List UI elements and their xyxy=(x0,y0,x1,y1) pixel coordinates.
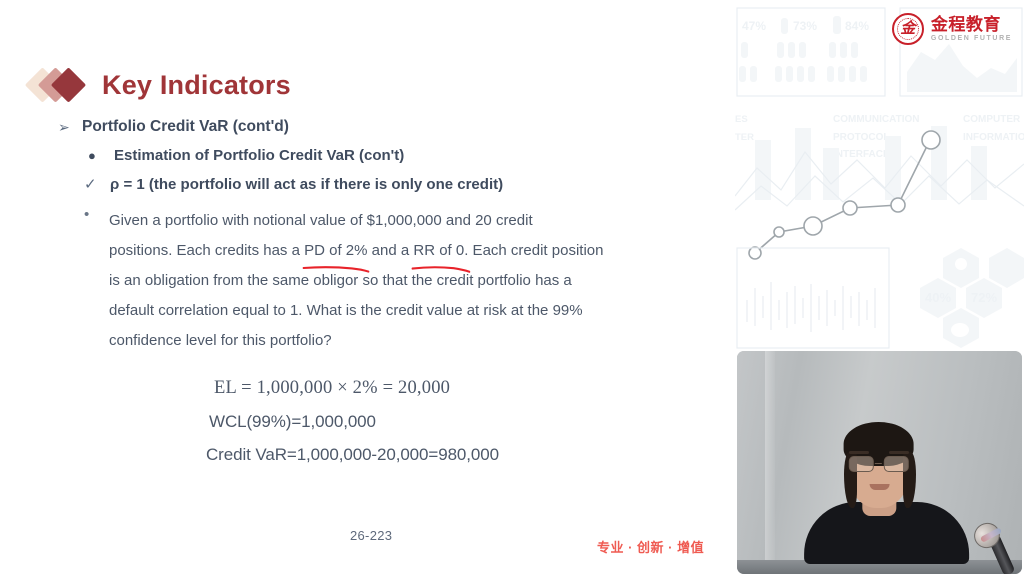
arrow-bullet-icon: ➢ xyxy=(58,116,82,138)
presenter-video-panel[interactable] xyxy=(737,351,1022,574)
svg-text:73%: 73% xyxy=(793,19,817,33)
video-wall-seam xyxy=(765,351,775,574)
svg-text:72%: 72% xyxy=(971,290,997,305)
diamond-bullet-icon xyxy=(30,68,92,102)
outline-level1: ➢ Portfolio Credit VaR (cont'd) xyxy=(58,116,720,138)
page-number: 26-223 xyxy=(350,528,392,543)
paragraph-line-1: Given a portfolio with notional value of… xyxy=(109,206,694,236)
outline-level1-label: Portfolio Credit VaR (cont'd) xyxy=(82,116,289,138)
equation-wcl: WCL(99%)=1,000,000 xyxy=(209,405,499,438)
svg-text:COMMUNICATION: COMMUNICATION xyxy=(833,114,919,125)
brand-name-cn: 金程教育 xyxy=(931,16,1012,33)
outline-level3: ✓ ρ = 1 (the portfolio will act as if th… xyxy=(84,174,720,196)
svg-text:84%: 84% xyxy=(845,19,869,33)
svg-text:ES: ES xyxy=(735,114,748,125)
svg-text:TER: TER xyxy=(735,132,754,143)
presenter-mouth xyxy=(869,484,889,490)
paragraph-line-4: default correlation equal to 1. What is … xyxy=(109,296,694,326)
question-paragraph-row: • Given a portfolio with notional value … xyxy=(84,206,694,356)
svg-text:40%: 40% xyxy=(925,290,951,305)
paragraph-line-2: positions. Each credits has a PD of 2% a… xyxy=(109,236,694,266)
annotated-term-pd: PD of 2% xyxy=(304,236,367,266)
presentation-slide: .wl { fill:none; stroke:#e9eef2; stroke-… xyxy=(0,0,1024,576)
outline-level2: ● Estimation of Portfolio Credit VaR (co… xyxy=(88,145,720,167)
background-infographic-watermark: .wl { fill:none; stroke:#e9eef2; stroke-… xyxy=(735,0,1024,355)
paragraph-line-2-part-b: and a xyxy=(367,242,413,259)
paragraph-line-2-part-a: positions. Each credits has a xyxy=(109,242,304,259)
presenter-brow-right xyxy=(889,451,909,454)
outline-level3-label: ρ = 1 (the portfolio will act as if ther… xyxy=(110,174,503,196)
outline-level2-label: Estimation of Portfolio Credit VaR (con'… xyxy=(114,145,404,167)
small-dot-bullet-icon: • xyxy=(84,206,109,223)
annotated-term-rr: RR of 0. xyxy=(413,236,468,266)
red-underline-annotation-icon-2 xyxy=(411,264,472,273)
watermark-graphics: .wl { fill:none; stroke:#e9eef2; stroke-… xyxy=(735,0,1024,355)
presenter-glasses-icon xyxy=(848,455,908,472)
dot-bullet-icon: ● xyxy=(88,145,114,167)
equation-block: EL = 1,000,000 × 2% = 20,000 WCL(99%)=1,… xyxy=(210,372,499,471)
seal-mark-label: 金 xyxy=(900,22,915,37)
svg-text:INTERFACE: INTERFACE xyxy=(833,149,890,160)
brand-text: 金程教育 GOLDEN FUTURE xyxy=(931,16,1012,42)
brand-name-en: GOLDEN FUTURE xyxy=(931,35,1012,42)
svg-text:INFORMATION: INFORMATION xyxy=(963,132,1024,143)
page-title: Key Indicators xyxy=(102,70,291,101)
svg-text:COMPUTER: COMPUTER xyxy=(963,114,1021,125)
brand-logo: 金 金程教育 GOLDEN FUTURE xyxy=(892,13,1012,45)
svg-text:47%: 47% xyxy=(742,19,766,33)
footer-slogan: 专业 · 创新 · 增值 xyxy=(597,537,704,556)
svg-text:PROTOCOL: PROTOCOL xyxy=(833,132,889,143)
annotated-term-pd-label: PD of 2% xyxy=(304,242,367,259)
presenter-brow-left xyxy=(849,451,869,454)
red-underline-annotation-icon xyxy=(302,264,371,273)
equation-expected-loss: EL = 1,000,000 × 2% = 20,000 xyxy=(214,372,499,405)
paragraph-line-5: confidence level for this portfolio? xyxy=(109,326,694,356)
paragraph-line-3: is an obligation from the same obligor s… xyxy=(109,266,694,296)
slide-title-row: Key Indicators xyxy=(30,68,291,102)
check-bullet-icon: ✓ xyxy=(84,174,110,196)
question-paragraph: Given a portfolio with notional value of… xyxy=(109,206,694,356)
annotated-term-rr-label: RR of 0. xyxy=(413,242,468,259)
slide-body: ➢ Portfolio Credit VaR (cont'd) ● Estima… xyxy=(0,116,720,356)
equation-credit-var: Credit VaR=1,000,000-20,000=980,000 xyxy=(206,438,499,471)
paragraph-line-2-part-c: Each credit position xyxy=(468,242,603,259)
seal-icon: 金 xyxy=(892,13,924,45)
